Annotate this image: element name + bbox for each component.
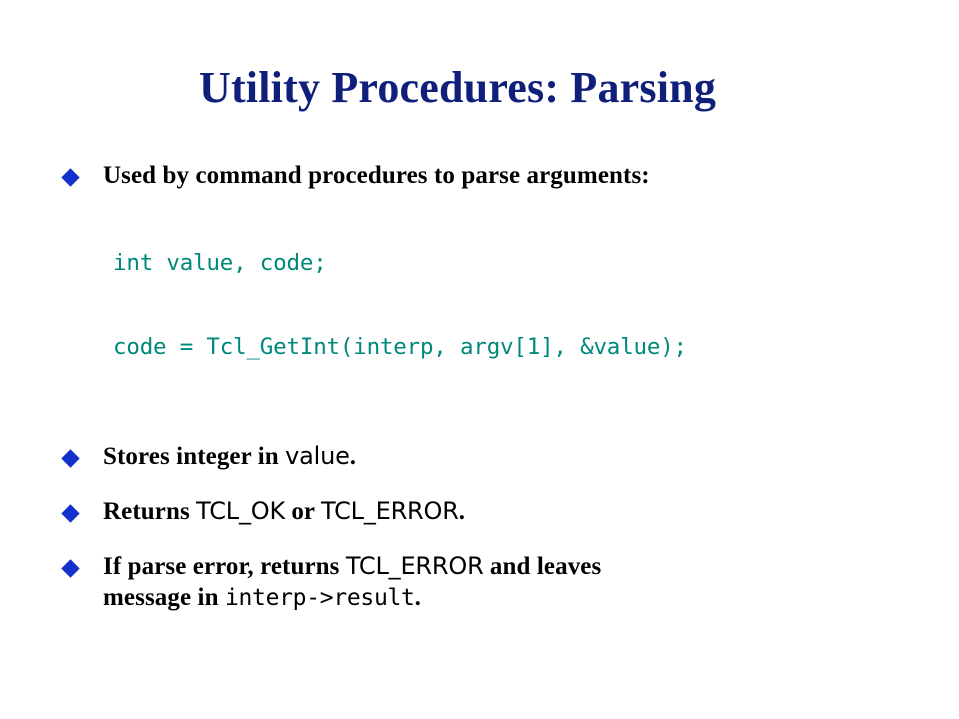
bullet-text-line2-tail: . (415, 584, 421, 611)
bullet-text-mid: or (285, 498, 321, 525)
inline-code-tcl-error: TCL_ERROR (321, 497, 459, 525)
diamond-bullet-icon (61, 449, 79, 467)
bullet-text-tail: . (459, 498, 465, 525)
bullet-text-line2-lead: message in (103, 584, 225, 611)
diamond-bullet-icon (61, 168, 79, 186)
bullet-list: Used by command procedures to parse argu… (60, 160, 920, 614)
page-title: Utility Procedures: Parsing (0, 62, 915, 114)
bullet-item-stores-integer: Stores integer in value. (60, 441, 920, 472)
inline-code-tcl-ok: TCL_OK (196, 497, 285, 525)
inline-code-tcl-error: TCL_ERROR (346, 552, 484, 580)
diamond-bullet-icon (61, 559, 79, 577)
bullet-text-mid: and leaves (484, 553, 602, 580)
diamond-bullet-icon (61, 504, 79, 522)
inline-code-interp-result: interp->result (225, 585, 415, 611)
bullet-item-used-by-command-procedures: Used by command procedures to parse argu… (60, 160, 920, 417)
code-block: int value, code; code = Tcl_GetInt(inter… (113, 193, 920, 417)
bullet-item-parse-error-message: If parse error, returns TCL_ERROR and le… (60, 551, 920, 614)
bullet-text-lead: Stores integer in (103, 443, 285, 470)
bullet-text: Returns TCL_OK or TCL_ERROR. (103, 496, 920, 527)
bullet-text: If parse error, returns TCL_ERROR and le… (103, 551, 920, 614)
bullet-text: Stores integer in value. (103, 441, 920, 472)
bullet-text-lead: Returns (103, 498, 196, 525)
bullet-text-lead: If parse error, returns (103, 553, 346, 580)
code-line: int value, code; (113, 249, 920, 277)
bullet-text: Used by command procedures to parse argu… (103, 160, 920, 191)
bullet-item-returns-codes: Returns TCL_OK or TCL_ERROR. (60, 496, 920, 527)
bullet-text-tail: . (350, 443, 356, 470)
inline-code-value: value (285, 442, 350, 470)
slide: Utility Procedures: Parsing Used by comm… (0, 0, 959, 719)
code-line: code = Tcl_GetInt(interp, argv[1], &valu… (113, 333, 920, 361)
